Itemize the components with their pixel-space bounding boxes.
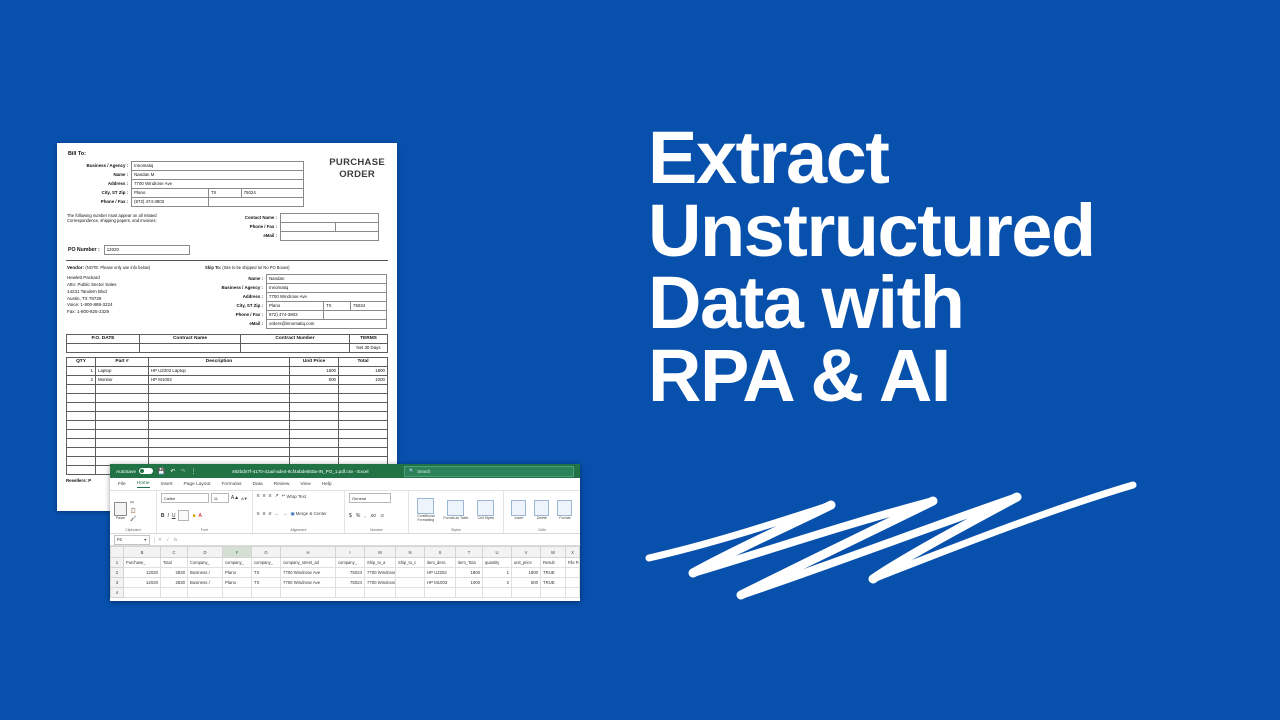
bold-button[interactable]: B — [161, 513, 165, 519]
column-header-N[interactable]: N — [396, 547, 425, 558]
vendor-address: Hewlett Packard Attn: Public Sector Sale… — [67, 275, 203, 316]
column-header-B[interactable]: B — [124, 547, 161, 558]
tab-formulas[interactable]: Formulas — [221, 482, 241, 487]
ship-phone-value[interactable]: 972) 474-3803 — [267, 310, 324, 319]
insert-cells-button[interactable]: Insert — [509, 500, 529, 521]
select-all-corner[interactable] — [111, 547, 124, 558]
bill-phone-value[interactable]: (972) 474-3803 — [132, 197, 209, 206]
cell[interactable]: TX — [252, 578, 281, 588]
formula-bar: F6 ▼ ✕ ✓ fx — [110, 534, 580, 546]
ship-zip-value[interactable]: 75024 — [351, 301, 387, 310]
increase-font-icon[interactable]: A▲ — [231, 495, 239, 501]
cell — [339, 447, 388, 456]
ribbon-group-number: General $ % , .00 .0 Number — [345, 491, 409, 533]
tab-data[interactable]: Data — [252, 482, 262, 487]
cell — [290, 402, 339, 411]
item-description: HP U2202 Laptop — [149, 366, 290, 375]
tab-file[interactable]: File — [118, 482, 126, 487]
table-row: Name : Nandan M — [66, 170, 304, 179]
bill-phone-label: Phone / Fax : — [66, 197, 132, 206]
italic-button[interactable]: I — [167, 513, 168, 519]
vendor-line: Austin, TX 78728 — [67, 296, 203, 303]
underline-button[interactable]: U — [172, 513, 176, 519]
contact-phone-label: Phone / Fax : — [229, 222, 281, 231]
bill-fax-value[interactable] — [208, 197, 303, 206]
cell[interactable] — [566, 578, 580, 588]
align-left-icon[interactable]: ≡ — [257, 511, 260, 517]
merge-center-button[interactable]: ▣ Merge & Center — [291, 511, 327, 517]
cell[interactable]: File Path — [566, 558, 580, 568]
column-header-M[interactable]: M — [365, 547, 396, 558]
cell-styles-label: Cell Styles — [478, 517, 495, 521]
tab-page-layout[interactable]: Page Layout — [184, 482, 211, 487]
contract-value-podate[interactable] — [67, 343, 140, 352]
table-row: Name : Nandan — [205, 274, 387, 283]
ribbon-group-clipboard: Paste ✂ 📋 🖌 Clipboard — [110, 491, 157, 533]
cell — [67, 384, 96, 393]
column-header-D[interactable]: D — [188, 547, 223, 558]
cell[interactable] — [188, 588, 223, 598]
vendor-line: 14231 Tandem Blvd — [67, 289, 203, 296]
conditional-formatting-label: Conditional Formatting — [413, 515, 439, 523]
ribbon-group-label: Cells — [508, 528, 576, 533]
number-format-select[interactable]: General — [349, 493, 391, 503]
comma-icon[interactable]: , — [364, 513, 365, 519]
cell — [67, 402, 96, 411]
table-row: Phone / Fax : (972) 474-3803 — [66, 197, 304, 206]
column-header-H[interactable]: H — [281, 547, 336, 558]
cell[interactable]: 12020 — [124, 578, 161, 588]
po-number-value[interactable]: 12020 — [104, 245, 189, 254]
cell[interactable] — [566, 568, 580, 578]
ship-to-table: Name : Nandan Business / Agency : Innoma… — [205, 274, 387, 329]
cell — [67, 438, 96, 447]
contract-header-name: Contract Name — [140, 334, 241, 343]
vendor-line: Attn: Public Sector Sales — [67, 282, 203, 289]
column-header-S[interactable]: S — [425, 547, 456, 558]
ship-address-value[interactable]: 7700 Windrose Ave — [267, 292, 387, 301]
column-header-F[interactable]: F — [223, 547, 252, 558]
excel-window[interactable]: AutoSave 💾 ↶ ↷ ⋮ 492bd47f-4170-41ad-ade4… — [110, 464, 580, 601]
decrease-decimal-icon[interactable]: .0 — [380, 513, 384, 518]
font-row-2: B I U ■ A — [161, 510, 248, 521]
po-note-line2: Correspondence, shipping papers, and inv… — [67, 218, 227, 223]
item-part: Laptop — [96, 366, 149, 375]
table-row: Vendor: (NOTE: Please only use info belo… — [66, 264, 388, 330]
table-header-row: QTY Part # Description Unit Price Total — [67, 357, 388, 366]
column-header-U[interactable]: U — [483, 547, 512, 558]
vendor-line: Fax: 1-800-825-2329 — [67, 309, 203, 316]
row-header[interactable]: 2 — [111, 568, 124, 578]
po-number-row: PO Number : 12020 — [66, 242, 228, 256]
cell[interactable]: unit_price — [512, 558, 541, 568]
table-row[interactable]: 2 Monitor HP M1003 500 1000 — [67, 375, 388, 384]
bill-business-label: Business / Agency : — [66, 161, 132, 170]
cell — [290, 447, 339, 456]
contact-phone-value[interactable] — [281, 222, 336, 231]
cell[interactable]: 2 — [483, 578, 512, 588]
styles-body: Conditional Formatting Format as Table C… — [413, 493, 499, 528]
cell-styles-button[interactable]: Cell Styles — [473, 500, 499, 521]
cancel-icon[interactable]: ✕ — [158, 537, 162, 543]
cell[interactable]: 7700 Windrose Ave — [281, 578, 336, 588]
table-row-empty[interactable] — [67, 429, 388, 438]
cell — [339, 393, 388, 402]
name-box[interactable]: F6 ▼ — [114, 535, 150, 545]
ship-address-label: Address : — [205, 292, 267, 301]
column-header-V[interactable]: V — [512, 547, 541, 558]
headline: Extract Unstructured Data with RPA & AI — [648, 122, 1248, 412]
wrap-text-button[interactable]: ↵ Wrap Text — [282, 493, 306, 499]
conditional-formatting-button[interactable]: Conditional Formatting — [413, 498, 439, 523]
name-box-value: F6 — [117, 537, 122, 542]
cell[interactable]: Business / — [188, 568, 223, 578]
po-note: The following number must appear on all … — [66, 212, 228, 242]
cell[interactable] — [396, 588, 425, 598]
table-row[interactable]: 1 Laptop HP U2202 Laptop 1800 1800 — [67, 366, 388, 375]
cell — [67, 465, 96, 474]
enter-icon[interactable]: ✓ — [166, 537, 170, 543]
purchase-order-title: PURCHASE ORDER — [329, 157, 385, 181]
cell[interactable]: 1000 — [456, 578, 483, 588]
ship-state-value[interactable]: TX — [324, 301, 351, 310]
insert-function-icon[interactable]: fx — [174, 537, 178, 543]
ribbon-group-label: Clipboard — [114, 528, 152, 533]
white-brush-scribble — [645, 455, 1205, 605]
merge-icon: ▣ — [291, 511, 295, 517]
cell — [96, 438, 149, 447]
table-row-empty[interactable] — [67, 384, 388, 393]
cell — [67, 411, 96, 420]
contact-block: Contact Name : Phone / Fax : eMail : — [228, 212, 388, 242]
cell[interactable]: 12020 — [124, 568, 161, 578]
cell[interactable] — [396, 568, 425, 578]
undo-icon[interactable]: ↶ — [170, 468, 175, 475]
ship-business-value[interactable]: Innomatiq — [267, 283, 387, 292]
cell[interactable] — [566, 588, 580, 598]
align-top-icon[interactable]: ≡ — [257, 493, 260, 499]
font-row-1: Calibri 11 A▲ A▼ — [161, 493, 248, 503]
cell[interactable]: Business / — [188, 578, 223, 588]
cell[interactable]: 1 — [483, 568, 512, 578]
po-number-section: The following number must appear on all … — [66, 212, 388, 256]
table-row: City, ST Zip : Plano TX 75024 — [205, 301, 387, 310]
tab-view[interactable]: View — [300, 482, 310, 487]
formula-input[interactable] — [184, 536, 576, 544]
cell[interactable]: Plano — [223, 578, 252, 588]
table-row-empty[interactable] — [67, 438, 388, 447]
cell — [67, 447, 96, 456]
table-row: Business / Agency : Innomatiq — [205, 283, 387, 292]
font-size-select[interactable]: 11 — [211, 493, 229, 503]
cell — [96, 429, 149, 438]
cell[interactable]: Total — [161, 558, 188, 568]
column-header-W[interactable]: W — [541, 547, 566, 558]
cell[interactable] — [124, 588, 161, 598]
ship-city-value[interactable]: Plano — [267, 301, 324, 310]
ship-business-label: Business / Agency : — [205, 283, 267, 292]
clipboard-body: Paste ✂ 📋 🖌 — [114, 493, 152, 528]
column-header-G[interactable]: G — [252, 547, 281, 558]
cell — [67, 420, 96, 429]
excel-ribbon-tabs: File Home Insert Page Layout Formulas Da… — [110, 478, 580, 491]
cell[interactable]: 500 — [512, 578, 541, 588]
cell[interactable]: Result — [541, 558, 566, 568]
contract-value-name[interactable] — [140, 343, 241, 352]
format-as-table-icon — [447, 500, 464, 516]
cell[interactable]: quantity — [483, 558, 512, 568]
table-row: eMail : — [229, 231, 379, 240]
cell[interactable] — [161, 588, 188, 598]
cell[interactable]: 7700 Windrose Ave — [281, 568, 336, 578]
contact-name-value[interactable] — [281, 213, 379, 222]
excel-search-box[interactable]: 🔍 Search — [404, 466, 574, 477]
decrease-indent-icon[interactable]: ← — [275, 511, 280, 517]
item-header-part: Part # — [96, 357, 149, 366]
table-row: Net 30 Days — [67, 343, 388, 352]
ribbon-group-styles: Conditional Formatting Format as Table C… — [409, 491, 504, 533]
ribbon-group-label: Number — [349, 528, 404, 533]
table-row-empty[interactable] — [67, 393, 388, 402]
font-color-icon[interactable]: A — [199, 513, 202, 519]
cell[interactable]: 7700 Windrose Ave — [365, 578, 396, 588]
item-unit-price: 500 — [290, 375, 339, 384]
cells-body: Insert Delete Format — [508, 493, 576, 528]
cell[interactable] — [425, 588, 456, 598]
contact-fax-value[interactable] — [336, 222, 379, 231]
item-header-unit-price: Unit Price — [290, 357, 339, 366]
column-header-C[interactable]: C — [161, 547, 188, 558]
headline-line-4: RPA & AI — [648, 340, 1248, 413]
cell — [67, 456, 96, 465]
cell[interactable]: TRUE — [541, 578, 566, 588]
cell[interactable]: TX — [252, 568, 281, 578]
cell[interactable]: company_ — [252, 558, 281, 568]
table-row: The following number must appear on all … — [66, 212, 388, 242]
ship-to-note: (Site to be shipped to/ No PO Boxes) — [222, 265, 289, 270]
wrap-text-icon: ↵ — [282, 493, 286, 499]
bill-city-label: City, ST Zip : — [66, 188, 132, 197]
cell[interactable]: Company_ — [188, 558, 223, 568]
cell — [96, 447, 149, 456]
cell[interactable]: Plano — [223, 568, 252, 578]
item-header-description: Description — [149, 357, 290, 366]
cell[interactable] — [365, 588, 396, 598]
format-as-table-button[interactable]: Format as Table — [443, 500, 469, 521]
merge-center-label: Merge & Center — [296, 511, 327, 516]
cell — [290, 429, 339, 438]
align-row-1: ≡ ≡ ≡ ↗ ↵ Wrap Text — [257, 493, 340, 499]
cell[interactable] — [541, 588, 566, 598]
purchase-order-document[interactable]: PURCHASE ORDER Bill To: Business / Agenc… — [57, 143, 397, 511]
cell[interactable]: item_Tota — [456, 558, 483, 568]
table-row-empty[interactable] — [67, 411, 388, 420]
cell[interactable] — [252, 588, 281, 598]
align-row-2: ≡ ≡ ≡ ← → ▣ Merge & Center — [257, 511, 340, 517]
format-cells-button[interactable]: Format — [555, 500, 575, 521]
format-painter-icon[interactable]: 🖌 — [130, 516, 136, 522]
line-items-table: QTY Part # Description Unit Price Total … — [66, 357, 388, 475]
table-row-empty[interactable] — [67, 447, 388, 456]
cell[interactable]: 75024 — [336, 568, 365, 578]
cell — [67, 429, 96, 438]
cell[interactable]: 2830 — [161, 568, 188, 578]
cell[interactable]: company_ — [336, 558, 365, 568]
align-right-icon[interactable]: ≡ — [269, 511, 272, 517]
table-row: City, ST Zip : Plano TX 75024 — [66, 188, 304, 197]
delete-cells-button[interactable]: Delete — [532, 500, 552, 521]
customize-icon[interactable]: ⋮ — [190, 468, 196, 475]
table-row: Business / Agency : Innomatiq — [66, 161, 304, 170]
vendor-block: Vendor: (NOTE: Please only use info belo… — [66, 264, 204, 330]
cell[interactable]: 75024 — [336, 578, 365, 588]
cell[interactable]: company_ — [223, 558, 252, 568]
redo-icon[interactable]: ↷ — [180, 468, 185, 475]
cell — [149, 402, 290, 411]
delete-label: Delete — [537, 517, 547, 521]
copy-icon[interactable]: 📋 — [130, 508, 136, 514]
item-qty: 2 — [67, 375, 96, 384]
number-row-2: $ % , .00 .0 — [349, 513, 404, 519]
cell[interactable]: Purchase_ — [124, 558, 161, 568]
table-row-empty[interactable] — [67, 402, 388, 411]
align-middle-icon[interactable]: ≡ — [263, 493, 266, 499]
ship-email-value[interactable]: orders@innomatiq.com — [267, 319, 387, 328]
cell[interactable]: HP U2202 — [425, 568, 456, 578]
ship-to-block: Ship To: (Site to be shipped to/ No PO B… — [204, 264, 388, 330]
row-header[interactable]: 3 — [111, 578, 124, 588]
contract-header-number: Contract Number — [241, 334, 350, 343]
ship-phone-label: Phone / Fax : — [205, 310, 267, 319]
chevron-down-icon: ▼ — [144, 538, 147, 542]
vendor-shipto-section: Vendor: (NOTE: Please only use info belo… — [66, 264, 388, 330]
currency-icon[interactable]: $ — [349, 513, 352, 519]
table-row: Phone / Fax : — [229, 222, 379, 231]
cell[interactable]: 7700 Windrose Ave — [365, 568, 396, 578]
cell[interactable] — [223, 588, 252, 598]
cell[interactable]: Ship_to_a — [365, 558, 396, 568]
row-header[interactable]: 1 — [111, 558, 124, 568]
tab-review[interactable]: Review — [274, 482, 290, 487]
cell[interactable]: TRUE — [541, 568, 566, 578]
bill-business-value[interactable]: Innomatiq — [132, 161, 304, 170]
tab-home[interactable]: Home — [137, 481, 150, 488]
search-placeholder: Search — [417, 469, 430, 474]
column-header-T[interactable]: T — [456, 547, 483, 558]
cell[interactable]: HP M1003 — [425, 578, 456, 588]
po-number-label: PO Number : — [67, 245, 104, 254]
bill-name-value[interactable]: Nandan M — [132, 170, 304, 179]
vendor-line: Hewlett Packard — [67, 275, 203, 282]
align-center-icon[interactable]: ≡ — [263, 511, 266, 517]
decrease-font-icon[interactable]: A▼ — [241, 496, 248, 501]
cell — [339, 411, 388, 420]
cell[interactable]: 1800 — [512, 568, 541, 578]
tab-help[interactable]: Help — [322, 482, 332, 487]
table-row-empty[interactable] — [67, 420, 388, 429]
autosave-switch[interactable] — [139, 468, 153, 474]
align-bottom-icon[interactable]: ≡ — [269, 493, 272, 499]
item-header-total: Total — [339, 357, 388, 366]
ship-name-value[interactable]: Nandan — [267, 274, 387, 283]
contract-value-number[interactable] — [241, 343, 350, 352]
insert-icon — [511, 500, 526, 516]
fill-color-icon[interactable]: ■ — [192, 513, 195, 519]
cell[interactable] — [396, 578, 425, 588]
ribbon-group-label: Font — [161, 528, 248, 533]
paste-button[interactable]: Paste — [114, 502, 127, 520]
format-icon — [557, 500, 572, 516]
cell[interactable] — [483, 588, 512, 598]
table-row: Contact Name : — [229, 213, 379, 222]
autosave-label: AutoSave — [116, 469, 136, 474]
bill-state-value[interactable]: TX — [208, 188, 241, 197]
number-row-1: General — [349, 493, 404, 503]
font-family-select[interactable]: Calibri — [161, 493, 209, 503]
cell[interactable]: 1800 — [456, 568, 483, 578]
bill-zip-value[interactable]: 75024 — [241, 188, 303, 197]
autosave-toggle[interactable]: AutoSave — [116, 468, 153, 474]
cell — [339, 402, 388, 411]
contact-email-value[interactable] — [281, 231, 379, 240]
item-unit-price: 1800 — [290, 366, 339, 375]
cell — [96, 384, 149, 393]
column-header-X[interactable]: X — [566, 547, 580, 558]
table-row: eMail : orders@innomatiq.com — [205, 319, 387, 328]
cell[interactable] — [336, 588, 365, 598]
cell[interactable] — [512, 588, 541, 598]
bill-address-value[interactable]: 7700 Windrose Ave — [132, 179, 304, 188]
cell — [149, 438, 290, 447]
contract-table: P.O. DATE Contract Name Contract Number … — [66, 334, 388, 353]
percent-icon[interactable]: % — [356, 513, 360, 519]
cell[interactable]: 2830 — [161, 578, 188, 588]
ship-fax-value[interactable] — [324, 310, 387, 319]
cell — [96, 393, 149, 402]
tab-insert[interactable]: Insert — [161, 482, 173, 487]
cell[interactable]: item_desc — [425, 558, 456, 568]
item-header-qty: QTY — [67, 357, 96, 366]
cell[interactable] — [281, 588, 336, 598]
bill-city-value[interactable]: Plano — [132, 188, 209, 197]
orientation-icon[interactable]: ↗ — [275, 493, 279, 499]
cell — [67, 393, 96, 402]
contact-name-label: Contact Name : — [229, 213, 281, 222]
search-icon: 🔍 — [409, 468, 414, 474]
paste-icon — [114, 502, 127, 516]
cell[interactable]: Ship_to_c — [396, 558, 425, 568]
delete-icon — [534, 500, 549, 516]
increase-decimal-icon[interactable]: .00 — [370, 513, 376, 518]
vendor-label: Vendor: — [67, 265, 84, 270]
cell[interactable] — [456, 588, 483, 598]
ribbon-group-label: Styles — [413, 528, 499, 533]
column-header-I[interactable]: I — [336, 547, 365, 558]
cut-icon[interactable]: ✂ — [130, 500, 136, 506]
cell[interactable]: company_street_ad — [281, 558, 336, 568]
increase-indent-icon[interactable]: → — [283, 511, 288, 517]
borders-icon[interactable] — [178, 510, 189, 521]
cell — [96, 420, 149, 429]
item-total: 1800 — [339, 366, 388, 375]
cell — [149, 411, 290, 420]
po-title-line1: PURCHASE — [329, 157, 385, 169]
save-icon[interactable]: 💾 — [158, 468, 165, 475]
excel-sheet-grid[interactable]: B C D F G H I M N S T U V W X 1 — [110, 546, 580, 598]
format-as-table-label: Format as Table — [443, 517, 468, 521]
contract-value-terms[interactable]: Net 30 Days — [350, 343, 388, 352]
row-header[interactable]: 4 — [111, 588, 124, 598]
